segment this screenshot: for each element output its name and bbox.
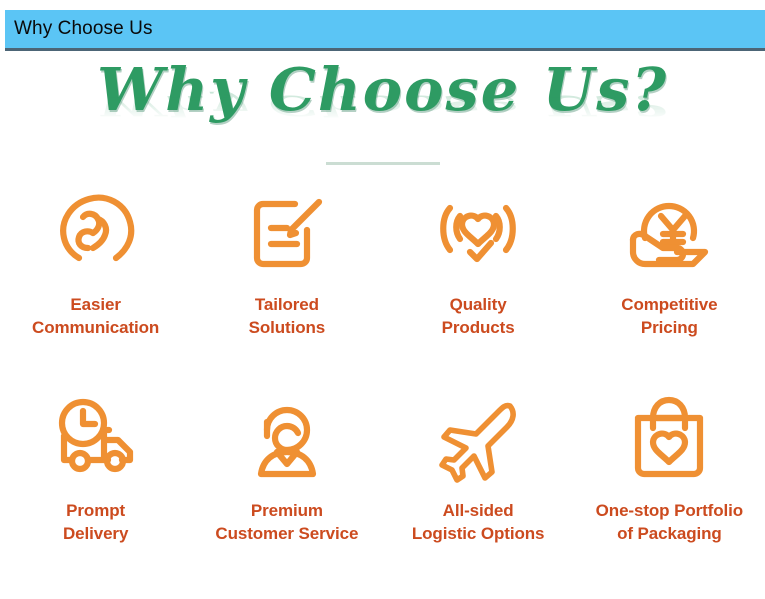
window-titlebar: Why Choose Us [5, 10, 765, 51]
feature-item-premium-customer-service[interactable]: Premium Customer Service [191, 392, 382, 546]
heart-signal-check-icon [430, 186, 526, 282]
feature-label: Premium Customer Service [215, 500, 358, 546]
feature-label: All-sided Logistic Options [412, 500, 545, 546]
feature-item-competitive-pricing[interactable]: Competitive Pricing [574, 186, 765, 340]
feature-label: Prompt Delivery [63, 500, 128, 546]
delivery-truck-clock-icon [48, 392, 144, 488]
page-title: Why Choose Us? [97, 60, 668, 119]
feature-label: Easier Communication [32, 294, 159, 340]
hero-section: Why Choose Us? Why Choose Us? [0, 54, 765, 166]
feature-row: Easier Communication Tailored Solutions [0, 186, 765, 340]
hand-yen-coin-icon [621, 186, 717, 282]
feature-grid: Easier Communication Tailored Solutions [0, 186, 765, 546]
feature-item-tailored-solutions[interactable]: Tailored Solutions [191, 186, 382, 340]
feature-label: One-stop Portfolio of Packaging [596, 500, 743, 546]
feature-item-all-sided-logistic-options[interactable]: All-sided Logistic Options [383, 392, 574, 546]
document-pencil-icon [239, 186, 335, 282]
airplane-icon [430, 392, 526, 488]
feature-item-prompt-delivery[interactable]: Prompt Delivery [0, 392, 191, 546]
headset-agent-icon [239, 392, 335, 488]
shopping-bag-heart-icon [621, 392, 717, 488]
window-title: Why Choose Us [5, 18, 153, 40]
feature-label: Tailored Solutions [249, 294, 326, 340]
feature-label: Competitive Pricing [621, 294, 717, 340]
feature-row: Prompt Delivery Premium Customer Service [0, 392, 765, 546]
feature-item-one-stop-portfolio-of-packaging[interactable]: One-stop Portfolio of Packaging [574, 392, 765, 546]
feature-label: Quality Products [442, 294, 515, 340]
title-divider [326, 162, 440, 165]
page-content: Why Choose Us? Why Choose Us? Easier Com… [0, 54, 765, 599]
ear-listening-icon [48, 186, 144, 282]
feature-item-quality-products[interactable]: Quality Products [383, 186, 574, 340]
feature-item-easier-communication[interactable]: Easier Communication [0, 186, 191, 340]
